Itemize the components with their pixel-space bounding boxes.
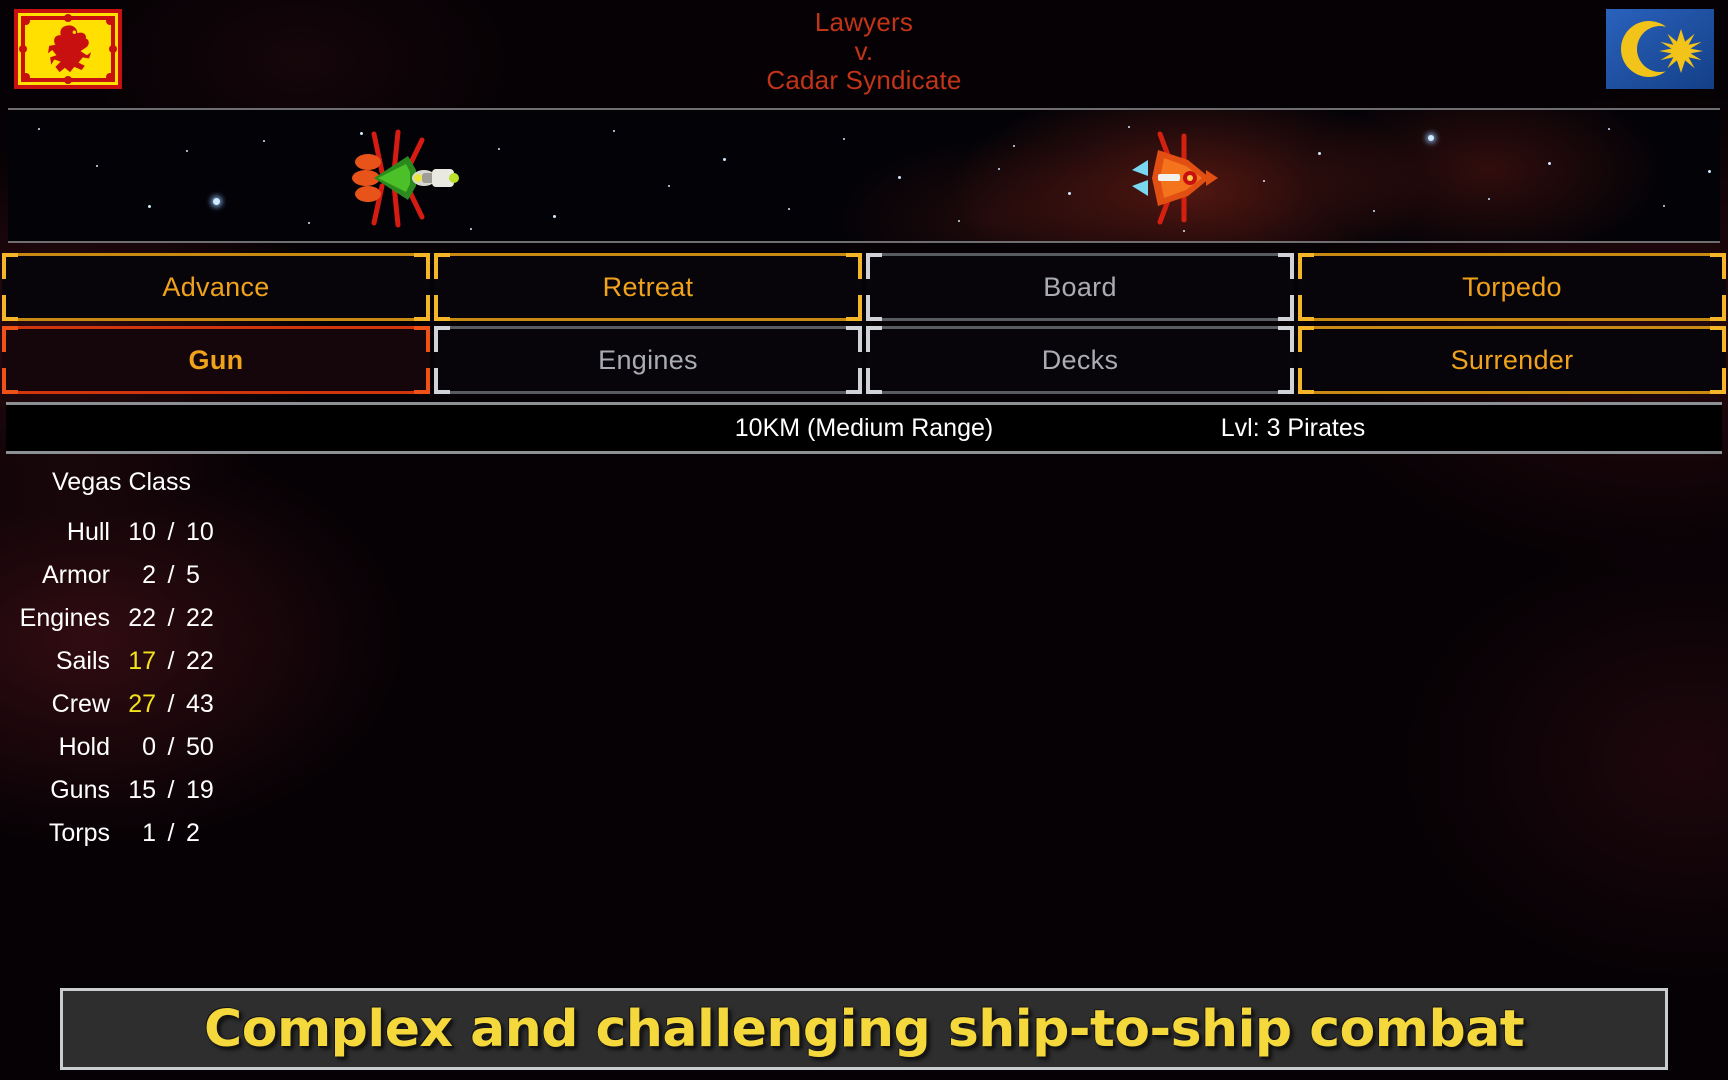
- stat-current: 2: [110, 554, 156, 597]
- match-title-line-1: Lawyers: [0, 8, 1728, 37]
- stat-separator: /: [156, 511, 186, 554]
- match-title: Lawyers v. Cadar Syndicate: [0, 8, 1728, 95]
- action-button-gun-label: Gun: [189, 345, 244, 376]
- stat-current: 0: [110, 726, 156, 769]
- stat-max: 5: [186, 554, 232, 597]
- combat-viewport: [8, 108, 1720, 243]
- promo-banner-text: Complex and challenging ship-to-ship com…: [204, 1000, 1524, 1059]
- match-title-line-2: v.: [0, 37, 1728, 66]
- action-button-surrender[interactable]: Surrender: [1298, 326, 1726, 394]
- action-button-surrender-label: Surrender: [1451, 345, 1574, 376]
- stat-max: 19: [186, 769, 232, 812]
- action-button-torpedo[interactable]: Torpedo: [1298, 253, 1726, 321]
- combat-screen: Lawyers v. Cadar Syndicate: [0, 0, 1728, 1080]
- action-button-row-primary: Advance Retreat Board Torpedo: [0, 253, 1728, 321]
- action-button-retreat[interactable]: Retreat: [434, 253, 862, 321]
- stat-separator: /: [156, 726, 186, 769]
- action-button-advance-label: Advance: [162, 272, 269, 303]
- status-bar: 10KM (Medium Range) Lvl: 3 Pirates: [6, 402, 1722, 454]
- promo-banner: Complex and challenging ship-to-ship com…: [60, 988, 1668, 1070]
- stat-max: 10: [186, 511, 232, 554]
- stat-current: 27: [110, 683, 156, 726]
- stat-row: Guns 15 / 19: [0, 769, 1728, 812]
- player-stats-panel: Vegas Class Hull 10 / 10 Armor 2 / 5 Eng…: [0, 468, 1728, 848]
- stat-current: 22: [110, 597, 156, 640]
- player-ship-name: Vegas Class: [0, 468, 1728, 497]
- header: Lawyers v. Cadar Syndicate: [0, 0, 1728, 108]
- stat-max: 22: [186, 640, 232, 683]
- stat-separator: /: [156, 554, 186, 597]
- stat-label: Torps: [0, 812, 110, 855]
- stat-row: Hold 0 / 50: [0, 726, 1728, 769]
- action-button-gun[interactable]: Gun: [2, 326, 430, 394]
- starfield: [8, 110, 1720, 241]
- stat-separator: /: [156, 640, 186, 683]
- stat-separator: /: [156, 683, 186, 726]
- stat-separator: /: [156, 812, 186, 855]
- stat-row: Armor 2 / 5: [0, 554, 1728, 597]
- stat-label: Sails: [0, 640, 110, 683]
- action-button-advance[interactable]: Advance: [2, 253, 430, 321]
- stat-current: 10: [110, 511, 156, 554]
- stat-current: 17: [110, 640, 156, 683]
- action-button-torpedo-label: Torpedo: [1462, 272, 1562, 303]
- stat-label: Hull: [0, 511, 110, 554]
- action-button-decks-label: Decks: [1042, 345, 1119, 376]
- stat-row: Sails 17 / 22: [0, 640, 1728, 683]
- match-title-line-3: Cadar Syndicate: [0, 66, 1728, 95]
- action-button-board-label: Board: [1043, 272, 1117, 303]
- action-button-row-target: Gun Engines Decks Surrender: [0, 326, 1728, 394]
- action-button-retreat-label: Retreat: [603, 272, 694, 303]
- stat-max: 43: [186, 683, 232, 726]
- stat-current: 1: [110, 812, 156, 855]
- stat-separator: /: [156, 597, 186, 640]
- player-ship: [346, 128, 476, 228]
- action-button-engines-label: Engines: [598, 345, 698, 376]
- stat-label: Crew: [0, 683, 110, 726]
- stat-label: Hold: [0, 726, 110, 769]
- stat-max: 2: [186, 812, 232, 855]
- stat-row: Crew 27 / 43: [0, 683, 1728, 726]
- stat-row: Engines 22 / 22: [0, 597, 1728, 640]
- ship-stats-area: Vegas Class Hull 10 / 10 Armor 2 / 5 Eng…: [0, 468, 1728, 848]
- stat-row: Torps 1 / 2: [0, 812, 1728, 855]
- stat-label: Armor: [0, 554, 110, 597]
- stat-label: Guns: [0, 769, 110, 812]
- player-stat-list: Hull 10 / 10 Armor 2 / 5 Engines 22 / 22: [0, 511, 1728, 855]
- enemy-ship: [1114, 130, 1224, 226]
- action-button-decks: Decks: [866, 326, 1294, 394]
- enemy-level-indicator: Lvl: 3 Pirates: [864, 414, 1722, 443]
- stat-separator: /: [156, 769, 186, 812]
- action-button-engines: Engines: [434, 326, 862, 394]
- stat-current: 15: [110, 769, 156, 812]
- stat-max: 50: [186, 726, 232, 769]
- crescent-star-flag-icon: [1606, 9, 1714, 89]
- action-button-board: Board: [866, 253, 1294, 321]
- stat-max: 22: [186, 597, 232, 640]
- stat-label: Engines: [0, 597, 110, 640]
- stat-row: Hull 10 / 10: [0, 511, 1728, 554]
